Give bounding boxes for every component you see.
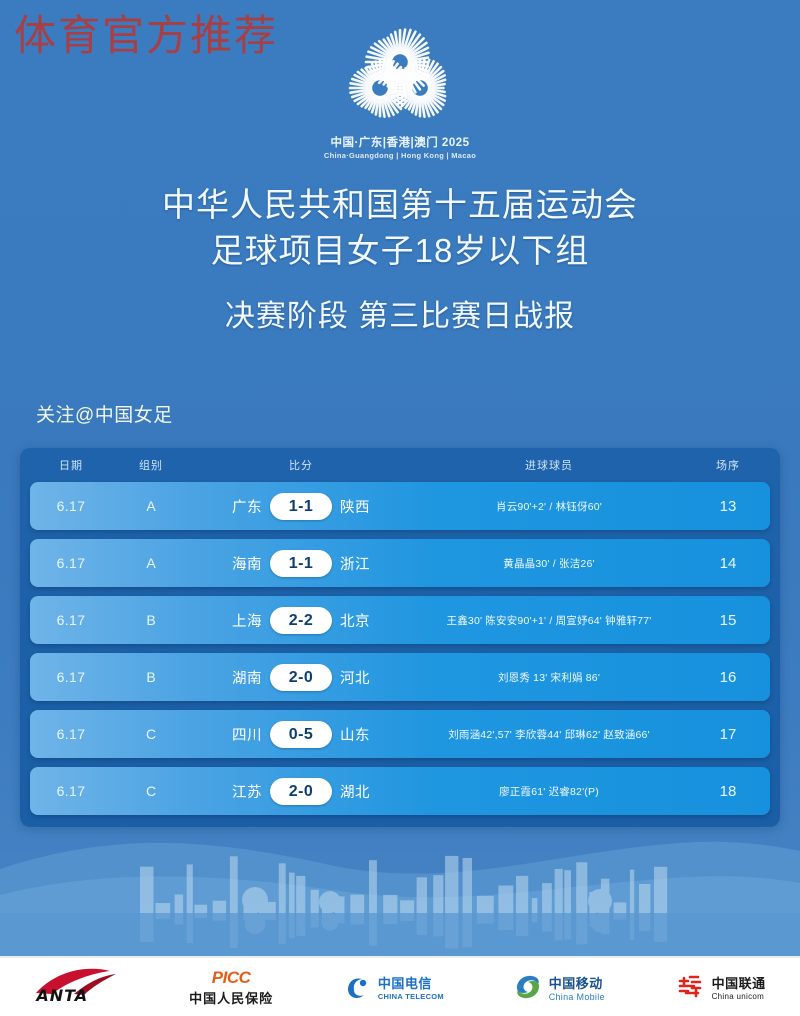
- row-scorers: 刘雨涵42',57' 李欣蓉44' 邱琳62' 赵致涵66': [408, 727, 690, 742]
- telecom-en-text: CHINA TELECOM: [378, 992, 444, 1001]
- row-group: A: [108, 498, 194, 514]
- row-order: 17: [690, 726, 766, 743]
- row-home-team: 广东: [200, 496, 262, 517]
- sponsor-picc: PICC 中国人民保险: [189, 967, 273, 1007]
- row-home-team: 上海: [200, 610, 262, 631]
- row-order: 14: [690, 555, 766, 572]
- sponsor-china-telecom: 中国电信 CHINA TELECOM: [342, 967, 444, 1007]
- row-match: 上海2-2北京: [194, 607, 408, 634]
- follow-handle: 关注@中国女足: [36, 400, 173, 427]
- table-row[interactable]: 6.17A广东1-1陕西肖云90'+2' / 林钰伢60'13: [30, 482, 770, 530]
- picc-cn-text: 中国人民保险: [189, 988, 273, 1007]
- row-date: 6.17: [34, 783, 108, 799]
- row-order: 15: [690, 612, 766, 629]
- row-home-team: 四川: [200, 724, 262, 745]
- row-match: 海南1-1浙江: [194, 550, 408, 577]
- china-mobile-logo-icon: [513, 972, 543, 1002]
- mobile-en-text: China Mobile: [549, 992, 605, 1002]
- row-away-team: 浙江: [340, 553, 402, 574]
- row-away-team: 河北: [340, 667, 402, 688]
- row-score: 2-2: [270, 607, 332, 634]
- mobile-cn-text: 中国移动: [549, 973, 605, 992]
- row-score: 2-0: [270, 778, 332, 805]
- sponsor-china-unicom: 中国联通 China unicom: [674, 967, 766, 1007]
- row-date: 6.17: [34, 555, 108, 571]
- row-date: 6.17: [34, 498, 108, 514]
- row-group: B: [108, 612, 194, 628]
- row-match: 江苏2-0湖北: [194, 778, 408, 805]
- watermark-text: 体育官方推荐: [14, 2, 278, 63]
- row-match: 四川0-5山东: [194, 721, 408, 748]
- row-order: 16: [690, 669, 766, 686]
- logo-en-text: China·Guangdong | Hong Kong | Macao: [0, 151, 800, 160]
- sponsor-anta: ANTA: [34, 967, 120, 1007]
- row-scorers: 廖正霞61' 迟睿82'(P): [408, 784, 690, 799]
- row-scorers: 肖云90'+2' / 林钰伢60': [408, 499, 690, 514]
- table-row[interactable]: 6.17B上海2-2北京王鑫30' 陈安安90'+1' / 周宣妤64' 钟雅轩…: [30, 596, 770, 644]
- row-away-team: 陕西: [340, 496, 402, 517]
- column-header-date: 日期: [34, 457, 108, 473]
- row-away-team: 山东: [340, 724, 402, 745]
- row-date: 6.17: [34, 726, 108, 742]
- row-group: C: [108, 726, 194, 742]
- column-header-group: 组别: [108, 457, 194, 473]
- column-header-scorers: 进球球员: [408, 457, 690, 473]
- table-row[interactable]: 6.17C江苏2-0湖北廖正霞61' 迟睿82'(P)18: [30, 767, 770, 815]
- row-scorers: 黄晶晶30' / 张洁26': [408, 556, 690, 571]
- games-emblem-burst-icon: [339, 22, 461, 132]
- page-title-line2: 足球项目女子18岁以下组: [0, 228, 800, 274]
- column-header-score: 比分: [194, 457, 408, 473]
- row-home-team: 海南: [200, 553, 262, 574]
- page-title-line1: 中华人民共和国第十五届运动会: [0, 182, 800, 228]
- headings-block: 中华人民共和国第十五届运动会 足球项目女子18岁以下组 决赛阶段 第三比赛日战报: [0, 182, 800, 338]
- row-away-team: 北京: [340, 610, 402, 631]
- china-unicom-logo-icon: [674, 972, 706, 1002]
- row-scorers: 王鑫30' 陈安安90'+1' / 周宣妤64' 钟雅轩77': [408, 613, 690, 628]
- table-row[interactable]: 6.17B湖南2-0河北刘恩秀 13' 宋利娟 86'16: [30, 653, 770, 701]
- row-score: 1-1: [270, 493, 332, 520]
- table-header-row: 日期 组别 比分 进球球员 场序: [20, 448, 780, 482]
- row-match: 广东1-1陕西: [194, 493, 408, 520]
- row-date: 6.17: [34, 669, 108, 685]
- row-score: 1-1: [270, 550, 332, 577]
- row-group: C: [108, 783, 194, 799]
- page-subtitle: 决赛阶段 第三比赛日战报: [0, 296, 800, 338]
- sponsor-bar: ANTA PICC 中国人民保险 中国电信 CHINA TELECOM: [0, 956, 800, 1016]
- row-score: 2-0: [270, 664, 332, 691]
- unicom-en-text: China unicom: [712, 992, 766, 1001]
- results-rows: 6.17A广东1-1陕西肖云90'+2' / 林钰伢60'136.17A海南1-…: [20, 482, 780, 815]
- row-score: 0-5: [270, 721, 332, 748]
- results-card: 日期 组别 比分 进球球员 场序 6.17A广东1-1陕西肖云90'+2' / …: [20, 448, 780, 827]
- row-home-team: 湖南: [200, 667, 262, 688]
- row-match: 湖南2-0河北: [194, 664, 408, 691]
- anta-wordmark: ANTA: [36, 986, 88, 1005]
- column-header-order: 场序: [690, 457, 766, 473]
- row-date: 6.17: [34, 612, 108, 628]
- logo-cn-text: 中国·广东|香港|澳门 2025: [0, 134, 800, 150]
- telecom-cn-text: 中国电信: [378, 973, 444, 992]
- poster-root: 体育官方推荐 中国·广东|香港|澳门 2025 China·Guangdong …: [0, 0, 800, 1016]
- row-order: 13: [690, 498, 766, 515]
- picc-wordmark: PICC: [189, 968, 273, 988]
- sponsor-china-mobile: 中国移动 China Mobile: [513, 967, 605, 1007]
- china-telecom-logo-icon: [342, 972, 372, 1002]
- table-row[interactable]: 6.17C四川0-5山东刘雨涵42',57' 李欣蓉44' 邱琳62' 赵致涵6…: [30, 710, 770, 758]
- row-group: B: [108, 669, 194, 685]
- skyline-scenery: [0, 821, 800, 956]
- row-away-team: 湖北: [340, 781, 402, 802]
- row-home-team: 江苏: [200, 781, 262, 802]
- row-order: 18: [690, 783, 766, 800]
- unicom-cn-text: 中国联通: [712, 973, 766, 992]
- table-row[interactable]: 6.17A海南1-1浙江黄晶晶30' / 张洁26'14: [30, 539, 770, 587]
- row-scorers: 刘恩秀 13' 宋利娟 86': [408, 670, 690, 685]
- row-group: A: [108, 555, 194, 571]
